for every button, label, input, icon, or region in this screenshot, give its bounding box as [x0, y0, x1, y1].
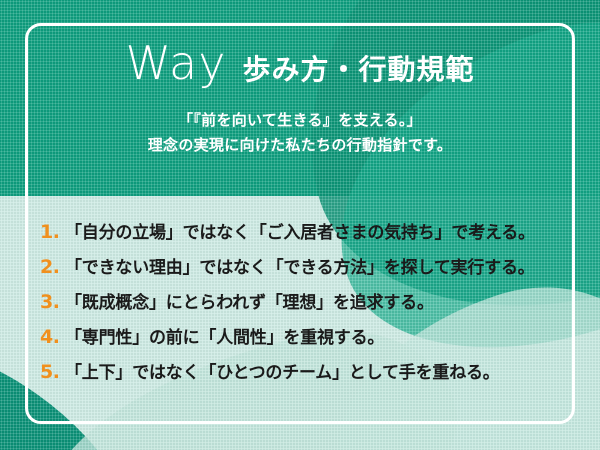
subtitle-line-1: 「『前を向いて生きる』を支える。」	[0, 108, 600, 133]
list-item-number: 5.	[40, 361, 65, 383]
slide-content: Way 歩み方・行動規範 「『前を向いて生きる』を支える。」 理念の実現に向けた…	[0, 0, 600, 450]
list-item-number: 3.	[40, 291, 65, 313]
list-item-label: 「専門性」の前に「人間性」を重視する。	[65, 323, 384, 348]
list-item: 3. 「既成概念」にとらわれず「理想」を追求する。	[40, 288, 570, 323]
way-slide: Way 歩み方・行動規範 「『前を向いて生きる』を支える。」 理念の実現に向けた…	[0, 0, 600, 450]
subtitle-block: 「『前を向いて生きる』を支える。」 理念の実現に向けた私たちの行動指針です。	[0, 108, 600, 158]
list-item-number: 4.	[40, 326, 65, 348]
list-item-label: 「上下」ではなく「ひとつのチーム」として手を重ねる。	[65, 358, 500, 383]
list-item-label: 「既成概念」にとらわれず「理想」を追求する。	[65, 288, 434, 313]
list-item: 2. 「できない理由」ではなく「できる方法」を探して実行する。	[40, 253, 570, 288]
list-item-number: 1.	[40, 221, 65, 243]
page-title-ja: 歩み方・行動規範	[242, 56, 474, 84]
list-item-number: 2.	[40, 256, 65, 278]
list-item: 4. 「専門性」の前に「人間性」を重視する。	[40, 323, 570, 358]
slide-header: Way 歩み方・行動規範 「『前を向いて生きる』を支える。」 理念の実現に向けた…	[0, 40, 600, 158]
list-item-label: 「自分の立場」ではなく「ご入居者さまの気持ち」で考える。	[65, 218, 535, 243]
title-row: Way 歩み方・行動規範	[0, 40, 600, 86]
subtitle-line-2: 理念の実現に向けた私たちの行動指針です。	[0, 133, 600, 158]
guideline-list: 1. 「自分の立場」ではなく「ご入居者さまの気持ち」で考える。 2. 「できない…	[40, 218, 570, 393]
list-item: 1. 「自分の立場」ではなく「ご入居者さまの気持ち」で考える。	[40, 218, 570, 253]
list-item: 5. 「上下」ではなく「ひとつのチーム」として手を重ねる。	[40, 358, 570, 393]
page-title-en: Way	[126, 40, 227, 86]
list-item-label: 「できない理由」ではなく「できる方法」を探して実行する。	[65, 253, 535, 278]
